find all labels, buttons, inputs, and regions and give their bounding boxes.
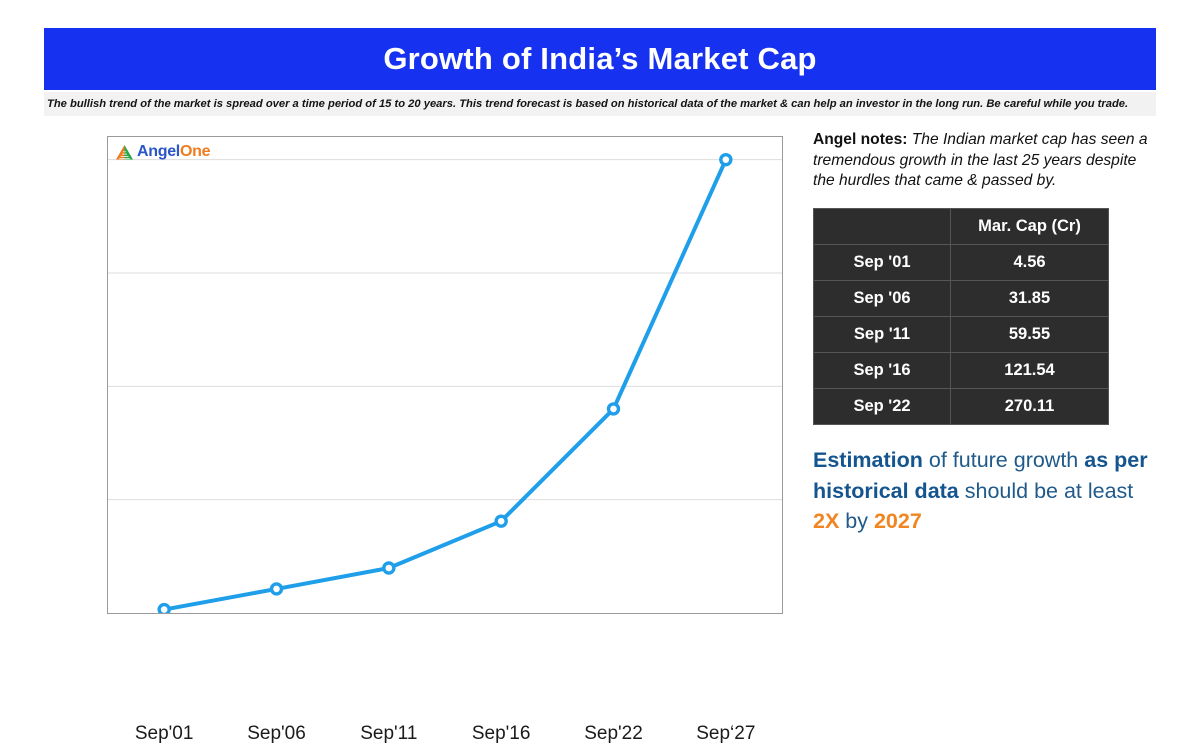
table-cell-cap: 121.54: [951, 353, 1109, 389]
x-axis-tick-label: Sep'16: [472, 723, 531, 745]
chart-data-point: [272, 584, 282, 594]
table-cell-period: Sep '22: [814, 389, 951, 425]
x-axis-tick-label: Sep'06: [247, 723, 306, 745]
logo-word-one: One: [180, 143, 210, 160]
table-cell-cap: 59.55: [951, 317, 1109, 353]
x-axis-tick-label: Sep'01: [135, 723, 194, 745]
x-axis-tick-label: Sep'22: [584, 723, 643, 745]
estimation-text: Estimation of future growth as per histo…: [813, 445, 1153, 537]
table-header-row: Mar. Cap (Cr): [814, 209, 1109, 245]
table-col-header-cap: Mar. Cap (Cr): [951, 209, 1109, 245]
x-axis-tick-label: Sep‘27: [696, 723, 755, 745]
estimation-part-5: 2X: [813, 509, 839, 533]
chart-data-point: [609, 404, 619, 414]
table-cell-cap: 270.11: [951, 389, 1109, 425]
table-col-header-period: [814, 209, 951, 245]
chart-data-point: [384, 563, 394, 573]
table-cell-period: Sep '16: [814, 353, 951, 389]
table-row: Sep '16121.54: [814, 353, 1109, 389]
angelone-triangle-icon: [116, 145, 133, 160]
angelone-wordmark: AngelOne: [137, 143, 210, 161]
subtitle-text: The bullish trend of the market is sprea…: [44, 98, 1128, 110]
table-row: Sep '1159.55: [814, 317, 1109, 353]
chart-data-point: [159, 605, 169, 613]
table-row: Sep '0631.85: [814, 281, 1109, 317]
table-cell-period: Sep '06: [814, 281, 951, 317]
angel-notes-label: Angel notes:: [813, 131, 907, 148]
angel-notes: Angel notes: The Indian market cap has s…: [813, 130, 1153, 192]
estimation-part-2: of future growth: [923, 448, 1084, 472]
plot-area: [107, 136, 783, 614]
line-chart: 150300450600 Sep'01Sep'06Sep'11Sep'16Sep…: [0, 118, 800, 648]
estimation-part-4: should be at least: [959, 479, 1134, 503]
estimation-part-6: by: [839, 509, 874, 533]
page-title: Growth of India’s Market Cap: [383, 41, 816, 77]
chart-series-line: [164, 160, 726, 610]
table-head: Mar. Cap (Cr): [814, 209, 1109, 245]
logo-word-angel: Angel: [137, 143, 180, 160]
estimation-part-1: Estimation: [813, 448, 923, 472]
table-cell-cap: 31.85: [951, 281, 1109, 317]
table-body: Sep '014.56Sep '0631.85Sep '1159.55Sep '…: [814, 245, 1109, 425]
chart-data-point: [496, 516, 506, 526]
table-row: Sep '014.56: [814, 245, 1109, 281]
table-cell-period: Sep '11: [814, 317, 951, 353]
x-axis-tick-label: Sep'11: [360, 723, 417, 745]
table-cell-period: Sep '01: [814, 245, 951, 281]
subtitle-band: The bullish trend of the market is sprea…: [44, 92, 1156, 116]
market-cap-table: Mar. Cap (Cr) Sep '014.56Sep '0631.85Sep…: [813, 208, 1109, 425]
header-band: Growth of India’s Market Cap: [44, 28, 1156, 90]
table-row: Sep '22270.11: [814, 389, 1109, 425]
angelone-logo: AngelOne: [116, 143, 210, 161]
estimation-part-7: 2027: [874, 509, 922, 533]
table-cell-cap: 4.56: [951, 245, 1109, 281]
chart-svg: [108, 137, 782, 613]
right-column: Angel notes: The Indian market cap has s…: [813, 130, 1153, 537]
chart-data-point: [721, 155, 731, 165]
